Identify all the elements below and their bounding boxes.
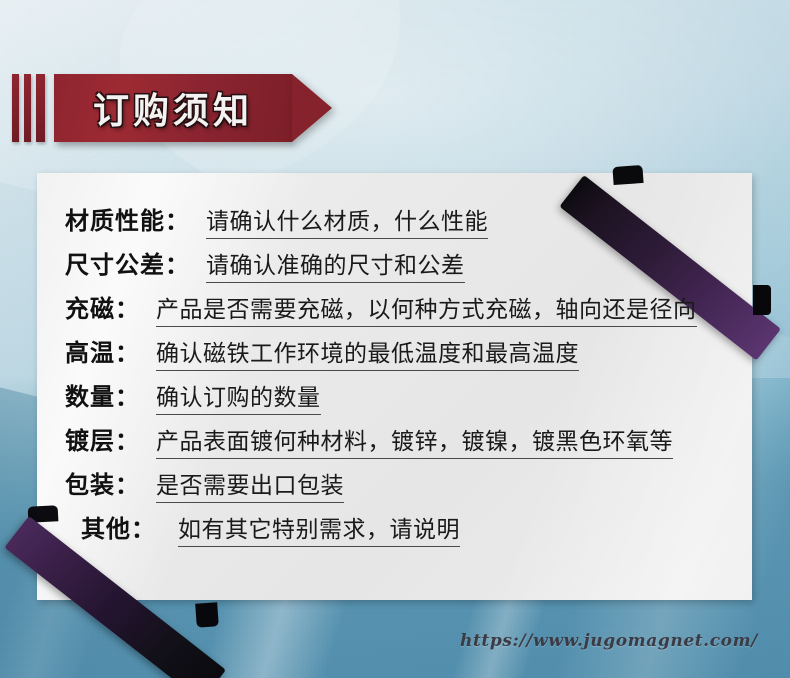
spec-row: 数量：确认订购的数量 bbox=[37, 377, 752, 421]
spec-value: 产品是否需要充磁，以何种方式充磁，轴向还是径向 bbox=[156, 290, 697, 327]
spec-label: 数量： bbox=[65, 377, 140, 412]
spec-label: 高温： bbox=[65, 333, 140, 368]
site-url: https://www.jugomagnet.com/ bbox=[460, 631, 758, 651]
spec-value: 如有其它特别需求，请说明 bbox=[178, 510, 460, 547]
banner-arrow-icon bbox=[292, 74, 332, 142]
ribbon-top-right-cap bbox=[612, 165, 643, 185]
content-card: 材质性能：请确认什么材质，什么性能尺寸公差：请确认准确的尺寸和公差充磁：产品是否… bbox=[37, 173, 752, 600]
spec-row: 包装：是否需要出口包装 bbox=[37, 465, 752, 509]
spec-value: 确认磁铁工作环境的最低温度和最高温度 bbox=[156, 334, 579, 371]
banner-plate: 订购须知 bbox=[54, 74, 292, 142]
spec-row: 镀层：产品表面镀何种材料，镀锌，镀镍，镀黑色环氧等 bbox=[37, 421, 752, 465]
spec-list: 材质性能：请确认什么材质，什么性能尺寸公差：请确认准确的尺寸和公差充磁：产品是否… bbox=[37, 173, 752, 553]
ribbon-bottom-left-tail bbox=[195, 602, 219, 627]
spec-label: 尺寸公差： bbox=[65, 245, 190, 280]
spec-label: 包装： bbox=[65, 465, 140, 500]
spec-value: 产品表面镀何种材料，镀锌，镀镍，镀黑色环氧等 bbox=[156, 422, 673, 459]
spec-row: 充磁：产品是否需要充磁，以何种方式充磁，轴向还是径向 bbox=[37, 289, 752, 333]
spec-row: 高温：确认磁铁工作环境的最低温度和最高温度 bbox=[37, 333, 752, 377]
spec-value: 请确认什么材质，什么性能 bbox=[206, 202, 488, 239]
banner-tick-mark bbox=[12, 74, 19, 142]
spec-label: 其他： bbox=[81, 509, 156, 544]
ribbon-top-right-tail bbox=[753, 285, 771, 315]
spec-label: 充磁： bbox=[65, 289, 140, 324]
spec-value: 是否需要出口包装 bbox=[156, 466, 344, 503]
spec-value: 确认订购的数量 bbox=[156, 378, 321, 415]
spec-row: 尺寸公差：请确认准确的尺寸和公差 bbox=[37, 245, 752, 289]
page-title: 订购须知 bbox=[93, 82, 253, 134]
spec-value: 请确认准确的尺寸和公差 bbox=[206, 246, 465, 283]
spec-row: 材质性能：请确认什么材质，什么性能 bbox=[37, 201, 752, 245]
spec-label: 镀层： bbox=[65, 421, 140, 456]
spec-label: 材质性能： bbox=[65, 201, 190, 236]
title-banner: 订购须知 bbox=[12, 74, 292, 142]
banner-tick-mark bbox=[24, 74, 31, 142]
banner-tick-mark bbox=[36, 74, 45, 142]
spec-row: 其他：如有其它特别需求，请说明 bbox=[37, 509, 752, 553]
poster-stage: 订购须知 材质性能：请确认什么材质，什么性能尺寸公差：请确认准确的尺寸和公差充磁… bbox=[0, 0, 790, 678]
